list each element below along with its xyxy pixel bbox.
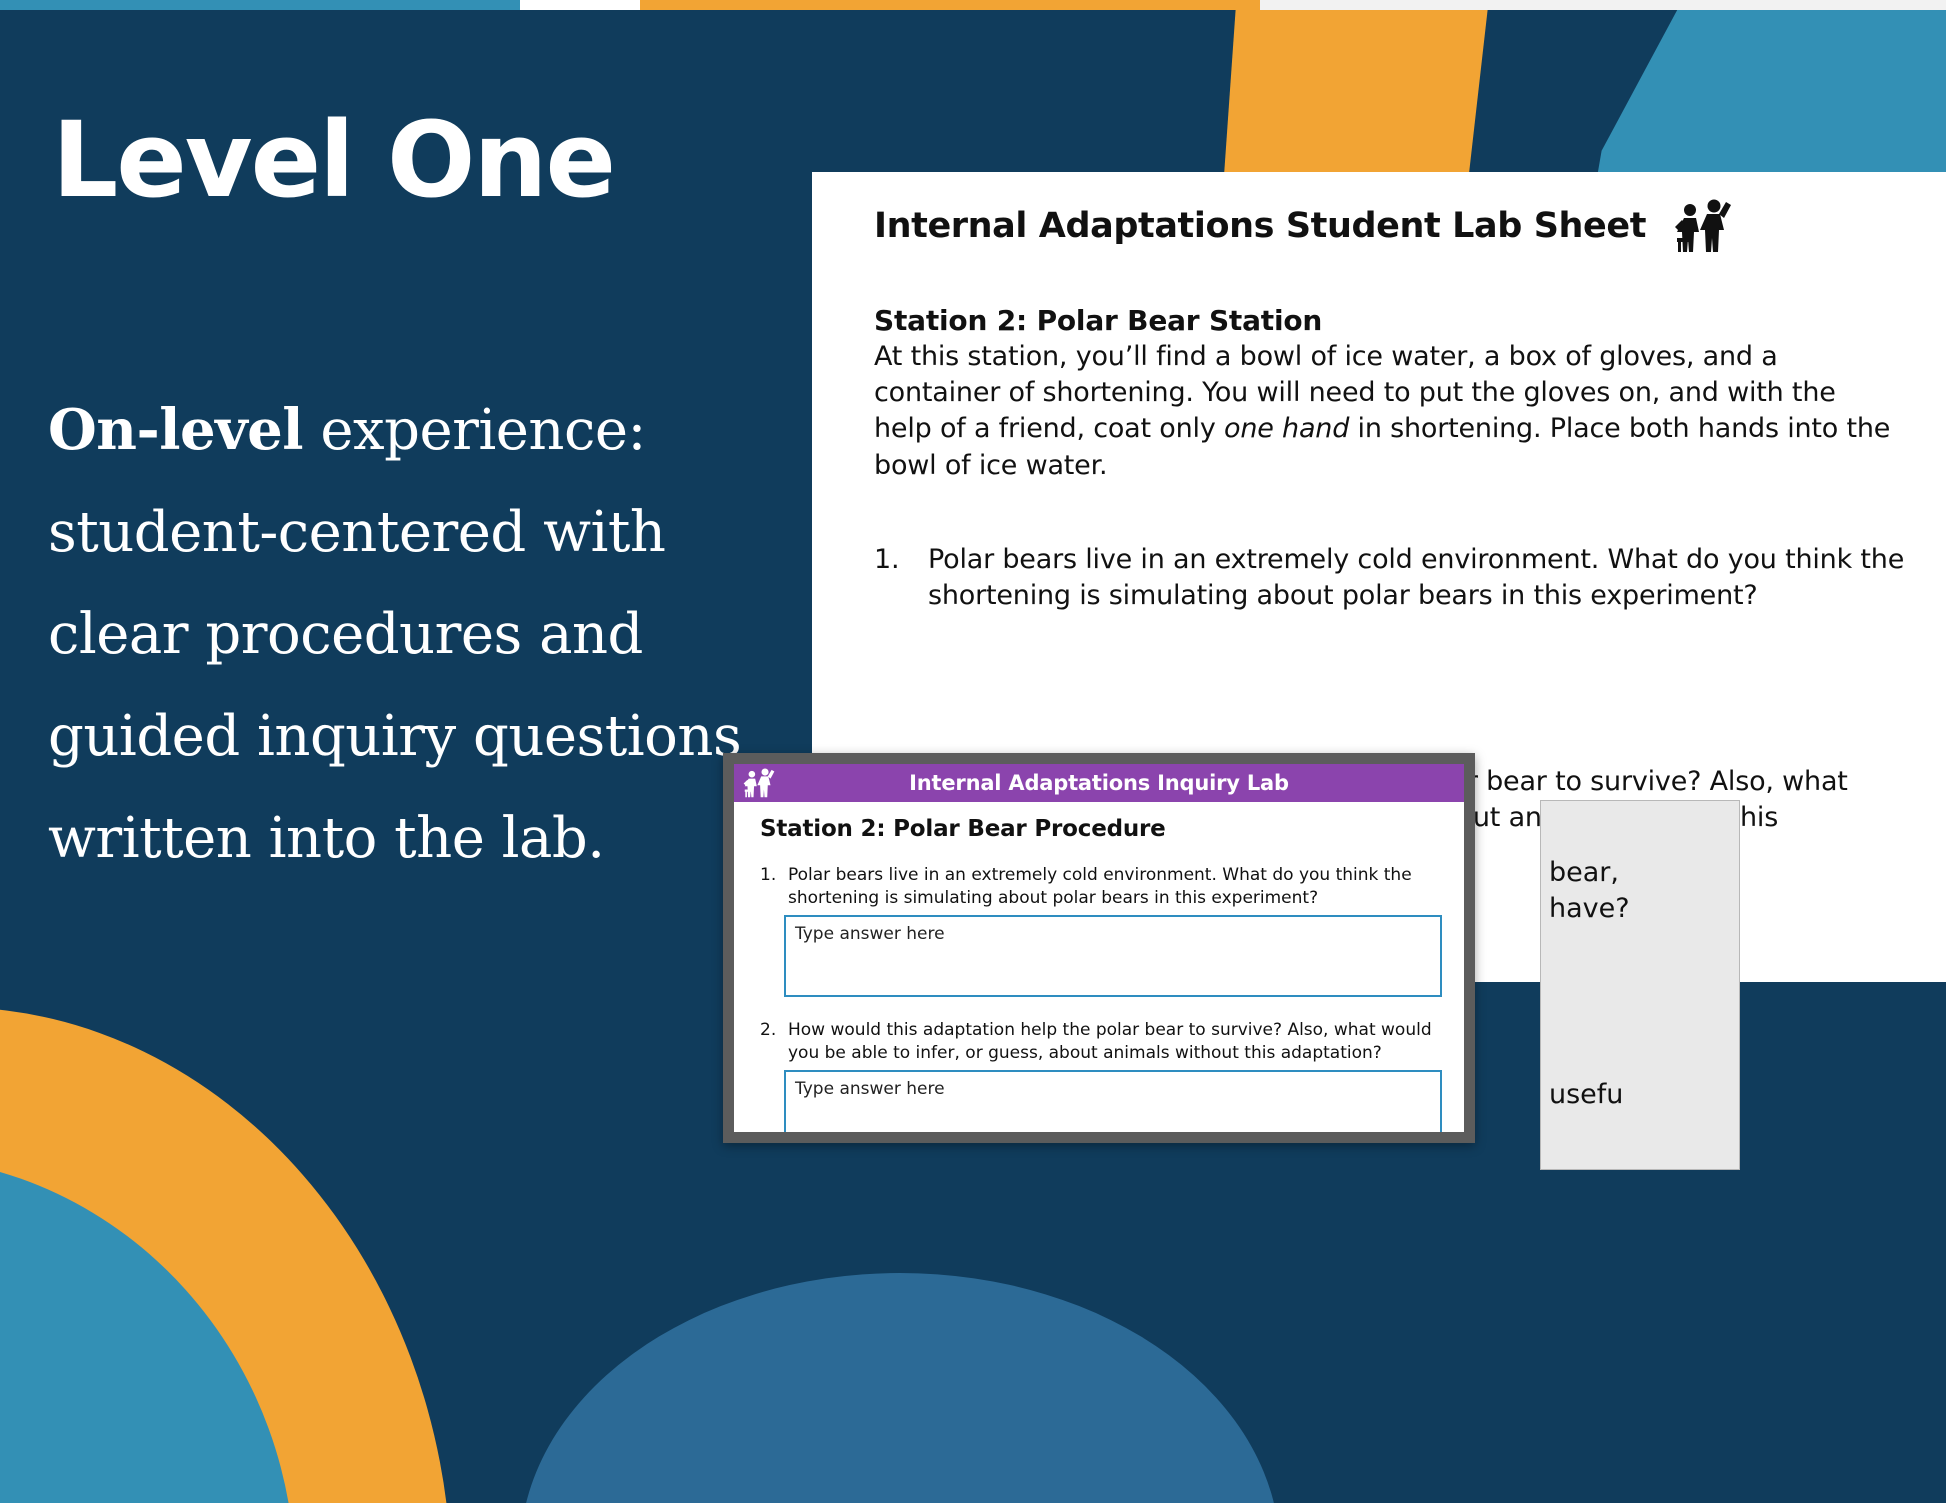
students-raising-hands-icon bbox=[1672, 198, 1734, 254]
inquiry-q1-text: Polar bears live in an extremely cold en… bbox=[786, 864, 1442, 909]
inquiry-lab-window-inner: Internal Adaptations Inquiry Lab Station… bbox=[734, 764, 1464, 1132]
slide-title: Level One bbox=[52, 106, 614, 215]
inquiry-q2-text: How would this adaptation help the polar… bbox=[786, 1019, 1442, 1064]
inquiry-lab-title-text: Internal Adaptations Inquiry Lab bbox=[734, 771, 1464, 795]
inquiry-lab-title-bar[interactable]: Internal Adaptations Inquiry Lab bbox=[734, 764, 1464, 802]
lab-sheet-header: Internal Adaptations Student Lab Sheet bbox=[874, 198, 1912, 254]
lab-q1-text: Polar bears live in an extremely cold en… bbox=[928, 542, 1934, 614]
slide-body-lead: On-level bbox=[48, 397, 303, 463]
decorative-orange-curve bbox=[0, 959, 448, 1503]
back-page-line-2: have? bbox=[1549, 891, 1739, 927]
top-edge-strip-orange bbox=[640, 0, 1260, 10]
top-edge-strip-teal bbox=[0, 0, 520, 10]
slide-canvas: Level One On-level experience: student-c… bbox=[0, 0, 1946, 1503]
lab-sheet-station-heading: Station 2: Polar Bear Station bbox=[874, 304, 1912, 337]
lab-sheet-intro-paragraph: At this station, you’ll find a bowl of i… bbox=[874, 339, 1894, 484]
inquiry-question-1: 1. Polar bears live in an extremely cold… bbox=[760, 864, 1442, 909]
inquiry-lab-station-heading: Station 2: Polar Bear Procedure bbox=[760, 816, 1442, 842]
back-page-spacer bbox=[1549, 927, 1739, 1077]
decorative-blue-circle bbox=[520, 1273, 1280, 1503]
inquiry-lab-window[interactable]: Internal Adaptations Inquiry Lab Station… bbox=[723, 753, 1475, 1143]
inquiry-question-2: 2. How would this adaptation help the po… bbox=[760, 1019, 1442, 1064]
slide-body-rest: experience: student-centered with clear … bbox=[48, 398, 741, 871]
lab-q1-number: 1. bbox=[874, 542, 902, 614]
inquiry-q1-number: 1. bbox=[760, 864, 778, 909]
back-page-line-1: bear, bbox=[1549, 855, 1739, 891]
decorative-teal-curve bbox=[0, 1130, 294, 1503]
lab-sheet-title: Internal Adaptations Student Lab Sheet bbox=[874, 206, 1646, 246]
inquiry-lab-body: Station 2: Polar Bear Procedure 1. Polar… bbox=[734, 802, 1464, 1132]
back-page-line-3: usefu bbox=[1549, 1077, 1739, 1113]
answer-input-1[interactable]: Type answer here bbox=[784, 915, 1442, 997]
lab-intro-italic: one hand bbox=[1224, 413, 1349, 444]
background-document-page: bear, have? usefu bbox=[1540, 800, 1740, 1170]
top-edge-strip bbox=[0, 0, 1946, 10]
lab-sheet-question-1: 1. Polar bears live in an extremely cold… bbox=[874, 542, 1934, 614]
students-raising-hands-icon bbox=[742, 766, 776, 800]
top-edge-strip-white bbox=[1260, 0, 1946, 10]
slide-body-text: On-level experience: student-centered wi… bbox=[48, 380, 808, 890]
inquiry-q2-number: 2. bbox=[760, 1019, 778, 1064]
answer-input-2[interactable]: Type answer here bbox=[784, 1070, 1442, 1132]
